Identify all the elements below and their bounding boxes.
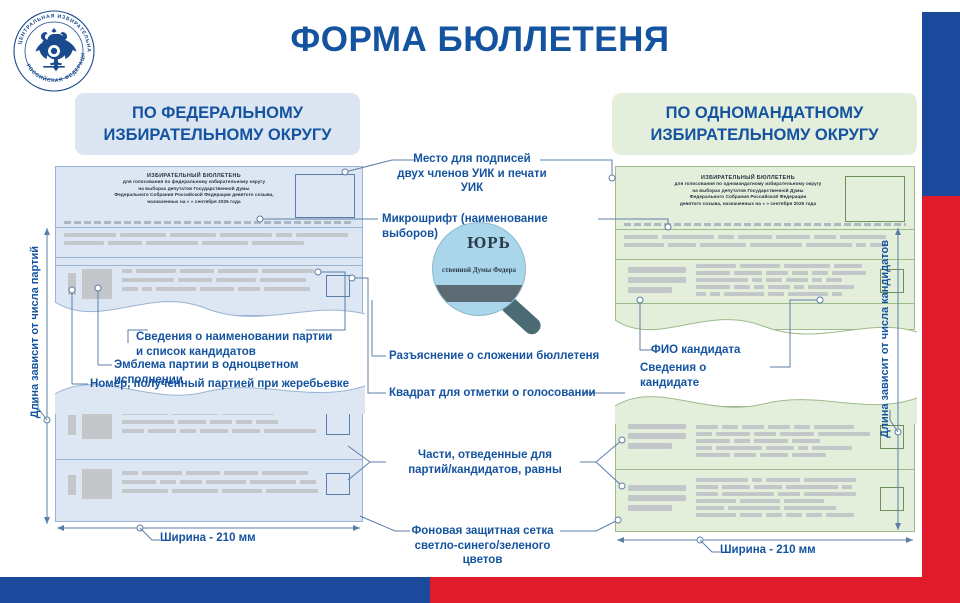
candidate-info-band: [696, 477, 872, 523]
text-placeholder-bar: [722, 485, 750, 489]
text-placeholder-bar: [766, 278, 782, 282]
party-number-block: [68, 273, 76, 295]
callout-security-mesh: Фоновая защитная сетка светло-синего/зел…: [400, 524, 565, 568]
width-label-federal: Ширина - 210 мм: [160, 531, 256, 546]
text-placeholder-bar: [696, 492, 718, 496]
ballot-federal-top: ИЗБИРАТЕЛЬНЫЙ БЮЛЛЕТЕНЬ для голосования …: [55, 166, 363, 316]
text-placeholder-bar: [722, 425, 738, 429]
vote-square-federal: [326, 473, 350, 495]
callout-vote-square: Квадрат для отметки о голосовании: [389, 386, 604, 401]
text-placeholder-bar: [696, 453, 730, 457]
text-placeholder-bar: [160, 480, 176, 484]
text-placeholder-bar: [740, 499, 780, 503]
text-placeholder-bar: [262, 471, 308, 475]
text-placeholder-bar: [786, 485, 838, 489]
party-emblem-block: [82, 269, 112, 299]
callout-party-number: Номер, полученный партией при жеребьевке: [90, 377, 370, 392]
text-placeholder-bar: [786, 513, 802, 517]
text-placeholder-bar: [122, 429, 144, 433]
text-placeholder-bar: [826, 513, 854, 517]
text-placeholder-bar: [812, 271, 828, 275]
text-placeholder-bar: [734, 453, 756, 457]
text-placeholder-bar: [122, 480, 156, 484]
text-placeholder-bar: [696, 485, 718, 489]
ballot-single-title-line5: девятого созыва, назначенных на « » сент…: [626, 201, 870, 207]
candidate-name-placeholder-bar: [628, 505, 672, 511]
candidate-name-band: [628, 485, 686, 513]
infographic-canvas: ЦЕНТРАЛЬНАЯ ИЗБИРАТЕЛЬНАЯ КОМИССИЯ РОССИ…: [0, 0, 922, 577]
panel-header-federal-line2: ИЗБИРАТЕЛЬНОМУ ОКРУГУ: [81, 124, 354, 146]
candidate-name-band: [628, 423, 686, 451]
text-placeholder-bar: [814, 425, 854, 429]
text-placeholder-bar: [834, 264, 862, 268]
text-placeholder-bar: [804, 478, 856, 482]
signature-stamp-box-federal: [295, 174, 355, 218]
candidate-name-placeholder-bar: [628, 287, 672, 293]
text-placeholder-bar: [784, 264, 830, 268]
fold-instruction-band-single: [616, 233, 914, 257]
candidate-name-placeholder-bar: [628, 495, 686, 501]
cec-russia-emblem: ЦЕНТРАЛЬНАЯ ИЗБИРАТЕЛЬНАЯ КОМИССИЯ РОССИ…: [13, 10, 95, 92]
candidate-name-band: [628, 267, 686, 295]
flag-stripe-blue: [922, 12, 960, 196]
text-placeholder-bar: [260, 278, 306, 282]
text-placeholder-bar: [716, 432, 750, 436]
text-placeholder-bar: [784, 506, 836, 510]
width-label-single: Ширина - 210 мм: [720, 543, 816, 558]
text-placeholder-bar: [768, 285, 790, 289]
panel-header-single-mandate: ПО ОДНОМАНДАТНОМУ ИЗБИРАТЕЛЬНОМУ ОКРУГУ: [612, 93, 917, 155]
text-placeholder-bar: [734, 271, 762, 275]
candidate-info-band: [696, 263, 872, 299]
text-placeholder-bar: [296, 233, 348, 237]
text-placeholder-bar: [64, 241, 104, 245]
text-placeholder-bar: [856, 243, 866, 247]
flag-stripe-red: [922, 196, 960, 603]
text-placeholder-bar: [696, 506, 724, 510]
candidate-name-placeholder-bar: [628, 277, 686, 283]
text-placeholder-bar: [668, 243, 696, 247]
candidate-name-placeholder-bar: [628, 433, 686, 439]
magnifier-text-small: ственной Думы Федера: [433, 266, 525, 274]
magnifier-band: [433, 285, 525, 302]
text-placeholder-bar: [216, 278, 256, 282]
flag-stripe-blue-bottom: [0, 577, 430, 603]
text-placeholder-bar: [842, 485, 852, 489]
text-placeholder-bar: [300, 480, 316, 484]
text-placeholder-bar: [806, 513, 822, 517]
text-placeholder-bar: [784, 499, 824, 503]
flag-border-right: [922, 0, 960, 603]
text-placeholder-bar: [236, 420, 252, 424]
text-placeholder-bar: [738, 235, 772, 239]
candidate-name-placeholder-bar: [628, 485, 686, 491]
ballot-federal-bottom: [55, 396, 363, 522]
ballot-single-top: ИЗБИРАТЕЛЬНЫЙ БЮЛЛЕТЕНЬ для голосования …: [615, 166, 915, 330]
microprint-line-single: [624, 223, 906, 226]
text-placeholder-bar: [250, 480, 296, 484]
text-placeholder-bar: [818, 432, 870, 436]
text-placeholder-bar: [200, 429, 228, 433]
text-placeholder-bar: [232, 429, 260, 433]
text-placeholder-bar: [766, 513, 782, 517]
text-placeholder-bar: [696, 478, 748, 482]
text-placeholder-bar: [750, 243, 802, 247]
callout-equal-parts: Части, отведенные для партий/кандидатов,…: [390, 448, 580, 477]
candidate-name-placeholder-bar: [628, 443, 672, 449]
text-placeholder-bar: [122, 471, 138, 475]
text-placeholder-bar: [224, 471, 258, 475]
text-placeholder-bar: [136, 269, 176, 273]
text-placeholder-bar: [120, 233, 166, 237]
text-placeholder-bar: [812, 278, 822, 282]
vote-square-single: [880, 487, 904, 511]
text-placeholder-bar: [148, 429, 176, 433]
text-placeholder-bar: [238, 287, 260, 291]
text-placeholder-bar: [696, 292, 706, 296]
text-placeholder-bar: [794, 285, 804, 289]
microprint-line-federal: [64, 221, 354, 224]
text-placeholder-bar: [142, 471, 182, 475]
text-placeholder-bar: [788, 292, 828, 296]
text-placeholder-bar: [276, 233, 292, 237]
text-placeholder-bar: [178, 278, 212, 282]
text-placeholder-bar: [172, 489, 218, 493]
text-placeholder-bar: [754, 439, 788, 443]
text-placeholder-bar: [768, 292, 784, 296]
text-placeholder-bar: [718, 235, 734, 239]
text-placeholder-bar: [142, 287, 152, 291]
text-placeholder-bar: [696, 439, 730, 443]
length-label-federal: Длина зависит от числа партий: [28, 246, 43, 418]
text-placeholder-bar: [754, 285, 764, 289]
panel-header-federal-line1: ПО ФЕДЕРАЛЬНОМУ: [81, 102, 354, 124]
party-number-block: [68, 415, 76, 435]
fold-instruction-band-federal: [56, 231, 362, 255]
text-placeholder-bar: [776, 235, 810, 239]
text-placeholder-bar: [206, 480, 246, 484]
text-placeholder-bar: [64, 233, 116, 237]
text-placeholder-bar: [122, 420, 174, 424]
party-number-block: [68, 475, 76, 495]
text-placeholder-bar: [200, 287, 234, 291]
text-placeholder-bar: [812, 446, 852, 450]
callout-candidate-name: ФИО кандидата: [651, 343, 791, 358]
callout-signatures: Место для подписей двух членов УИК и печ…: [392, 152, 552, 196]
text-placeholder-bar: [696, 271, 730, 275]
text-placeholder-bar: [798, 446, 808, 450]
text-placeholder-bar: [740, 264, 780, 268]
text-placeholder-bar: [740, 513, 762, 517]
text-placeholder-bar: [832, 292, 842, 296]
text-placeholder-bar: [210, 420, 232, 424]
text-placeholder-bar: [734, 439, 750, 443]
text-placeholder-bar: [252, 241, 304, 245]
text-placeholder-bar: [768, 425, 790, 429]
text-placeholder-bar: [264, 287, 310, 291]
text-placeholder-bar: [752, 478, 762, 482]
text-placeholder-bar: [180, 480, 202, 484]
ballot-federal-title-line5: назначенных на « » сентября 2026 года: [66, 199, 322, 205]
text-placeholder-bar: [780, 432, 814, 436]
text-placeholder-bar: [220, 233, 272, 237]
text-placeholder-bar: [696, 285, 730, 289]
text-placeholder-bar: [792, 453, 826, 457]
text-placeholder-bar: [734, 285, 750, 289]
flag-stripe-red-bottom: [430, 577, 960, 603]
text-placeholder-bar: [156, 287, 196, 291]
text-placeholder-bar: [814, 235, 836, 239]
text-placeholder-bar: [218, 269, 258, 273]
callout-fold-note: Разъяснение о сложении бюллетеня: [389, 349, 604, 364]
text-placeholder-bar: [728, 506, 780, 510]
text-placeholder-bar: [264, 429, 316, 433]
flag-border-bottom: [0, 577, 960, 603]
text-placeholder-bar: [108, 241, 142, 245]
text-placeholder-bar: [786, 278, 808, 282]
text-placeholder-bar: [202, 241, 248, 245]
panel-header-federal: ПО ФЕДЕРАЛЬНОМУ ИЗБИРАТЕЛЬНОМУ ОКРУГУ: [75, 93, 360, 155]
text-placeholder-bar: [826, 278, 842, 282]
text-placeholder-bar: [178, 420, 206, 424]
text-placeholder-bar: [792, 271, 808, 275]
candidate-name-placeholder-bar: [628, 267, 686, 273]
ballot-single-bottom: [615, 406, 915, 532]
vote-square-federal: [326, 275, 350, 297]
text-placeholder-bar: [266, 489, 318, 493]
text-placeholder-bar: [186, 471, 220, 475]
text-placeholder-bar: [624, 235, 658, 239]
text-placeholder-bar: [696, 499, 736, 503]
text-placeholder-bar: [122, 287, 138, 291]
text-placeholder-bar: [696, 513, 736, 517]
text-placeholder-bar: [696, 432, 712, 436]
panel-header-single-line1: ПО ОДНОМАНДАТНОМУ: [618, 102, 911, 124]
text-placeholder-bar: [804, 492, 856, 496]
callout-party-info: Сведения о наименовании партии и список …: [136, 330, 356, 359]
text-placeholder-bar: [710, 292, 720, 296]
text-placeholder-bar: [180, 429, 196, 433]
text-placeholder-bar: [832, 271, 866, 275]
text-placeholder-bar: [766, 271, 788, 275]
party-info-band: [122, 267, 320, 301]
text-placeholder-bar: [662, 235, 714, 239]
text-placeholder-bar: [722, 492, 774, 496]
text-placeholder-bar: [256, 420, 278, 424]
text-placeholder-bar: [754, 432, 776, 436]
text-placeholder-bar: [766, 446, 794, 450]
callout-candidate-info: Сведения о кандидате: [640, 361, 768, 390]
party-emblem-block: [82, 469, 112, 499]
text-placeholder-bar: [794, 425, 810, 429]
text-placeholder-bar: [700, 243, 746, 247]
text-placeholder-bar: [806, 243, 852, 247]
text-placeholder-bar: [840, 235, 886, 239]
callout-microprint: Микрошрифт (наименование выборов): [382, 212, 602, 241]
text-placeholder-bar: [808, 285, 854, 289]
text-placeholder-bar: [778, 492, 800, 496]
text-placeholder-bar: [696, 425, 718, 429]
page-title: ФОРМА БЮЛЛЕТЕНЯ: [270, 20, 690, 60]
signature-stamp-box-single: [845, 176, 905, 222]
text-placeholder-bar: [122, 489, 168, 493]
text-placeholder-bar: [716, 446, 762, 450]
text-placeholder-bar: [792, 439, 820, 443]
text-placeholder-bar: [696, 264, 736, 268]
panel-header-single-line2: ИЗБИРАТЕЛЬНОМУ ОКРУГУ: [618, 124, 911, 146]
text-placeholder-bar: [696, 278, 748, 282]
text-placeholder-bar: [180, 269, 214, 273]
vote-square-federal: [326, 413, 350, 435]
text-placeholder-bar: [122, 269, 132, 273]
text-placeholder-bar: [624, 243, 664, 247]
text-placeholder-bar: [752, 278, 762, 282]
length-label-single: Длина зависит от числа кандидатов: [878, 240, 893, 438]
flag-stripe-white: [922, 0, 960, 12]
text-placeholder-bar: [146, 241, 198, 245]
text-placeholder-bar: [262, 269, 314, 273]
torn-edge-single-bottom: [615, 388, 917, 424]
text-placeholder-bar: [696, 446, 712, 450]
text-placeholder-bar: [724, 292, 764, 296]
text-placeholder-bar: [170, 233, 216, 237]
text-placeholder-bar: [222, 489, 262, 493]
text-placeholder-bar: [754, 485, 782, 489]
text-placeholder-bar: [742, 425, 764, 429]
text-placeholder-bar: [760, 453, 788, 457]
text-placeholder-bar: [766, 478, 800, 482]
party-info-band: [122, 469, 320, 501]
text-placeholder-bar: [122, 278, 174, 282]
